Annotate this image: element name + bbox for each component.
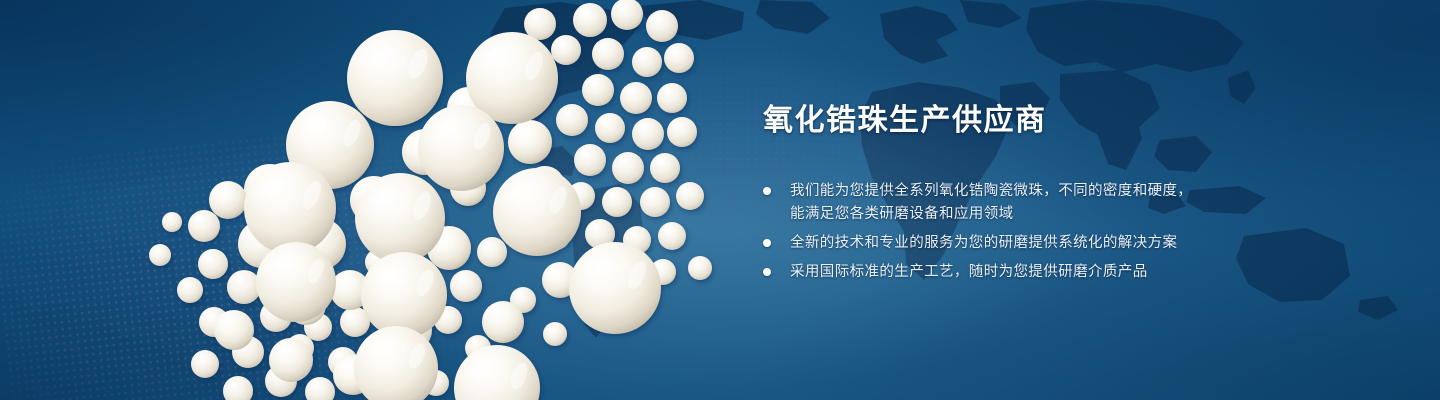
bullet-text-line: 采用国际标准的生产工艺，随时为您提供研磨介质产品 [790, 261, 1323, 283]
bullet-dot-icon [763, 239, 771, 247]
list-item: 我们能为您提供全系列氧化锆陶瓷微珠，不同的密度和硬度， 能满足您各类研磨设备和应… [763, 180, 1323, 225]
bullet-dot-icon [763, 268, 771, 276]
feature-bullet-list: 我们能为您提供全系列氧化锆陶瓷微珠，不同的密度和硬度， 能满足您各类研磨设备和应… [763, 180, 1323, 283]
hero-banner: 氧化锆珠生产供应商 我们能为您提供全系列氧化锆陶瓷微珠，不同的密度和硬度， 能满… [0, 0, 1440, 400]
bullet-text-line: 能满足您各类研磨设备和应用领域 [790, 203, 1323, 225]
halftone-dot-texture-left [0, 117, 474, 400]
banner-copy-block: 氧化锆珠生产供应商 我们能为您提供全系列氧化锆陶瓷微珠，不同的密度和硬度， 能满… [763, 104, 1323, 283]
bullet-text-line: 全新的技术和专业的服务为您的研磨提供系统化的解决方案 [790, 232, 1323, 254]
bullet-text-line: 我们能为您提供全系列氧化锆陶瓷微珠，不同的密度和硬度， [790, 180, 1323, 202]
bullet-dot-icon [763, 187, 771, 195]
list-item: 采用国际标准的生产工艺，随时为您提供研磨介质产品 [763, 261, 1323, 283]
list-item: 全新的技术和专业的服务为您的研磨提供系统化的解决方案 [763, 232, 1323, 254]
page-title: 氧化锆珠生产供应商 [763, 104, 1323, 139]
